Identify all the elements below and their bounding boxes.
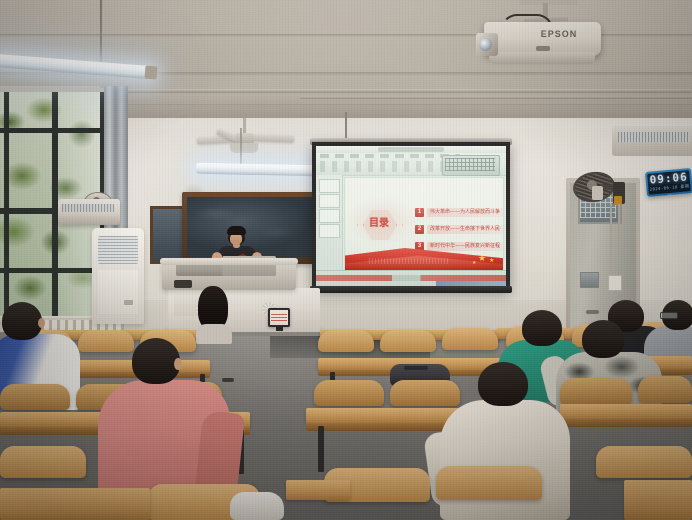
ceiling-conduit-pipe (300, 96, 692, 99)
digital-wall-clock: 09:06 2024-06-18 星期二 (645, 168, 692, 197)
student-torso (196, 324, 232, 344)
slide-row-text: 伟大革命——为人民解放而斗争 (428, 208, 504, 217)
backpack-strap (404, 366, 428, 370)
chair-back[interactable] (78, 330, 134, 352)
projector-brand-label: EPSON (529, 28, 589, 41)
hanging-rod (618, 204, 620, 260)
object-on-lectern (174, 280, 192, 288)
chair-back[interactable] (436, 466, 542, 500)
student-blue-white-shirt-head (2, 302, 42, 340)
air-conditioner-badge (124, 300, 133, 305)
desk-surface (0, 488, 150, 520)
chair-back[interactable] (390, 380, 460, 406)
slide-row-text: 新时代中华——民族复兴新征程 (428, 242, 504, 251)
slide-row-text: 改革开放——生命接下世界人民 (428, 225, 504, 234)
slide-row-number: 2 (415, 225, 424, 234)
electrical-box (592, 186, 603, 200)
tablet-stand (276, 327, 283, 331)
projector-vent (536, 46, 550, 51)
presentation-slide: 目录 1 伟大革命——为人民解放而斗争 2 改革开放——生命接下世界人民 3 新… (344, 177, 504, 271)
slide-badge-label: 目录 (365, 217, 393, 230)
slide-thumbnail[interactable] (319, 224, 340, 238)
slide-row-number: 1 (415, 208, 424, 217)
light-fixture-endcap (145, 66, 158, 80)
door-handle[interactable] (586, 310, 599, 314)
desk-surface (560, 404, 692, 420)
star-icon: ★ (478, 254, 486, 263)
projector-lens-icon (479, 38, 492, 51)
glasses-icon (660, 312, 678, 319)
desk-surface (286, 480, 350, 500)
chair-back[interactable] (638, 376, 692, 403)
student-beige-shirt-head (478, 362, 528, 406)
ceiling-conduit-pipe (110, 89, 692, 93)
chair-back[interactable] (560, 378, 632, 405)
air-conditioner-grill (618, 132, 690, 142)
student-pink-shirt-head (132, 338, 180, 384)
slide-thumbnail[interactable] (319, 179, 340, 193)
door-vent (580, 272, 599, 288)
student-beige-shirt-torso (440, 400, 570, 520)
slide-banner-texture (369, 258, 449, 264)
tablet-screen-content (271, 314, 287, 321)
light-switch-plate[interactable] (608, 275, 622, 291)
shoe (230, 492, 284, 520)
student-ear (174, 358, 182, 370)
star-icon: ★ (489, 258, 494, 264)
lectern-edge (160, 258, 298, 265)
powerpoint-panel-grid (445, 158, 495, 171)
powerpoint-ribbon-tabs[interactable] (320, 154, 460, 158)
ceiling-fan-light (230, 143, 258, 153)
air-conditioner-grill (62, 204, 114, 212)
air-conditioner-panel (98, 270, 138, 314)
chair-back[interactable] (314, 380, 384, 406)
hanging-rod (610, 204, 612, 274)
slide-thumbnail[interactable] (319, 194, 340, 208)
student-ear (38, 318, 45, 328)
star-icon: ★ (472, 261, 476, 266)
chair-back[interactable] (442, 328, 498, 350)
air-conditioner-grill (98, 236, 138, 264)
presenter-neck (233, 243, 240, 248)
projector-mount-plate (520, 0, 578, 5)
object-on-desk[interactable] (222, 378, 234, 382)
window-mullion (4, 92, 9, 320)
ceiling-fan-blade (250, 134, 294, 143)
presenter-hair (227, 226, 246, 235)
slide-thumbnail[interactable] (319, 209, 340, 223)
lecture-hall-photo: EPSON 09:06 2024-06-18 星期二 (0, 0, 692, 520)
powerpoint-title-text (378, 147, 444, 152)
chair-back[interactable] (0, 446, 86, 478)
chair-back[interactable] (0, 384, 70, 410)
light-hanger-rod (100, 0, 102, 62)
student-green-shirt-head (522, 310, 562, 346)
chair-back[interactable] (596, 446, 692, 478)
desk-surface (624, 480, 692, 520)
chair-back[interactable] (380, 330, 436, 352)
chair-back[interactable] (318, 330, 374, 352)
screen-bottom-bar (310, 286, 512, 293)
student-camo-shirt-head (582, 320, 624, 358)
desk-leg (318, 426, 324, 472)
projector-body-bottom (489, 52, 595, 64)
light-hanger-rod (240, 128, 242, 168)
desk-edge (560, 419, 692, 427)
projection-screen: 目录 1 伟大革命——为人民解放而斗争 2 改革开放——生命接下世界人民 3 新… (316, 146, 506, 286)
blackboard-chalk-marks (190, 200, 314, 254)
wall-mounted-air-conditioner (58, 199, 120, 225)
